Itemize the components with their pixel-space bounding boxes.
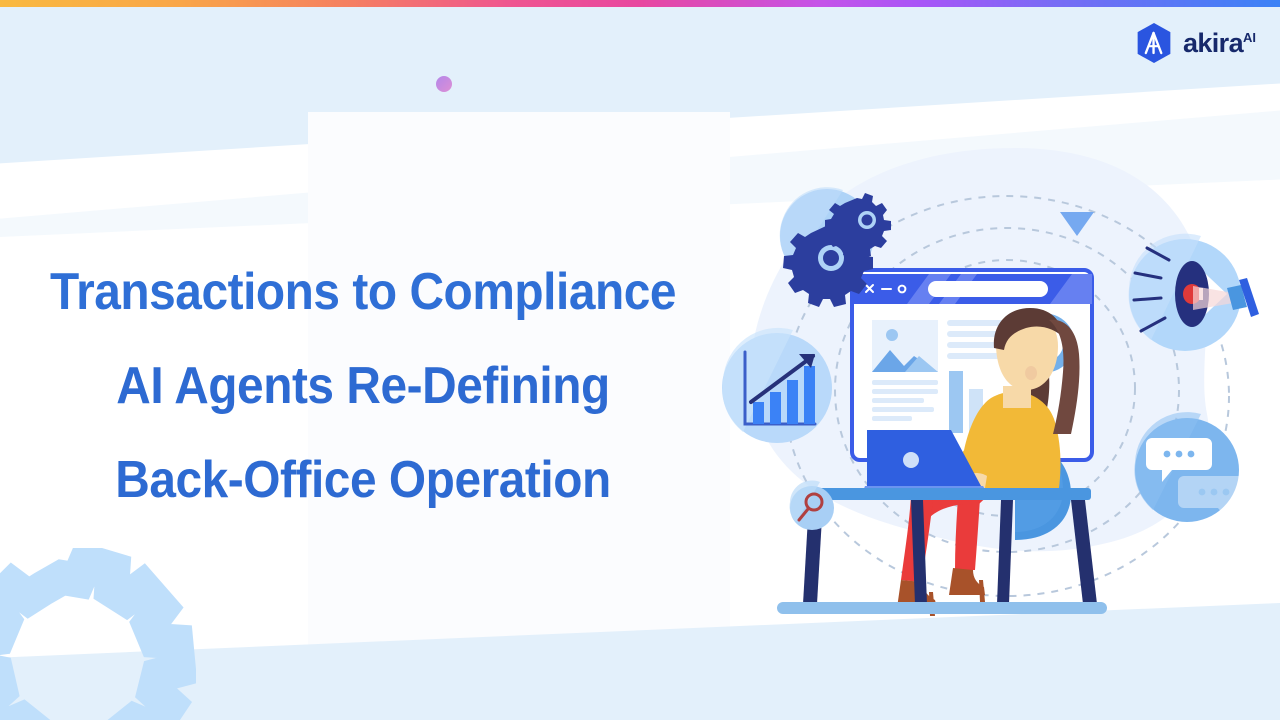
headline-block: Transactions to Compliance AI Agents Re-…: [0, 245, 726, 527]
akira-a-hexagon-logo-icon: [1134, 22, 1174, 64]
url-pill: [928, 281, 1048, 297]
gradient-accent-bar: [0, 0, 1280, 7]
headline-line-2: AI Agents Re-Defining: [29, 339, 697, 433]
brand-logo[interactable]: akiraAI: [1134, 22, 1256, 64]
brand-superscript-text: AI: [1243, 30, 1256, 45]
hero-illustration: [715, 140, 1280, 630]
slide-canvas: Transactions to Compliance AI Agents Re-…: [0, 0, 1280, 720]
headline-line-3: Back-Office Operation: [29, 433, 697, 527]
megaphone-badge: [1129, 234, 1259, 351]
background-gear-icon: [0, 548, 196, 720]
brand-name-text: akira: [1183, 28, 1243, 58]
headline-line-1: Transactions to Compliance: [29, 245, 697, 339]
accent-dot: [436, 76, 452, 92]
chat-bubbles-badge: [1134, 412, 1244, 522]
brand-wordmark: akiraAI: [1183, 30, 1256, 57]
